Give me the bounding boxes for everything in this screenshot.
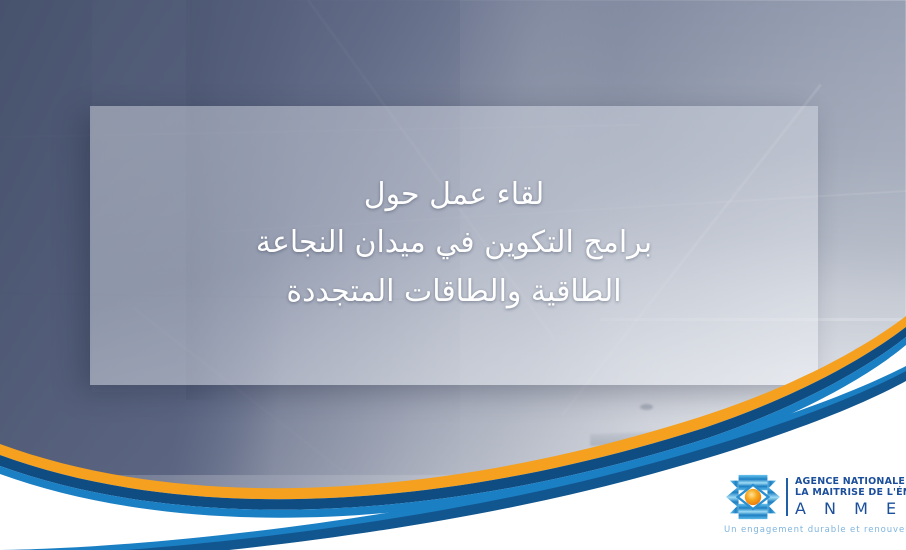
title-line-3: الطاقية والطاقات المتجددة [90, 268, 818, 317]
slide-title: لقاء عمل حول برامج التكوين في ميدان النج… [90, 171, 818, 321]
logo-acronym: A N M E [795, 500, 906, 518]
logo-text-block: AGENCE NATIONALE POUR LA MAITRISE DE L'É… [795, 476, 906, 518]
anme-logo: AGENCE NATIONALE POUR LA MAITRISE DE L'É… [724, 472, 896, 538]
presentation-slide: لقاء عمل حول برامج التكوين في ميدان النج… [0, 0, 906, 550]
title-line-2: برامج التكوين في ميدان النجاعة [90, 219, 818, 268]
anme-diamond-logo-mark-icon [724, 472, 782, 522]
logo-divider [786, 478, 788, 516]
background-light-spot [640, 404, 653, 410]
logo-line-2: LA MAITRISE DE L'ÉNERGIE [795, 487, 906, 498]
logo-tagline: Un engagement durable et renouvelable [724, 525, 896, 535]
logo-line-1: AGENCE NATIONALE POUR [795, 476, 906, 487]
title-panel: لقاء عمل حول برامج التكوين في ميدان النج… [90, 106, 818, 385]
title-line-1: لقاء عمل حول [90, 171, 818, 220]
logo-row: AGENCE NATIONALE POUR LA MAITRISE DE L'É… [724, 472, 906, 522]
background-light-spot [855, 348, 871, 355]
